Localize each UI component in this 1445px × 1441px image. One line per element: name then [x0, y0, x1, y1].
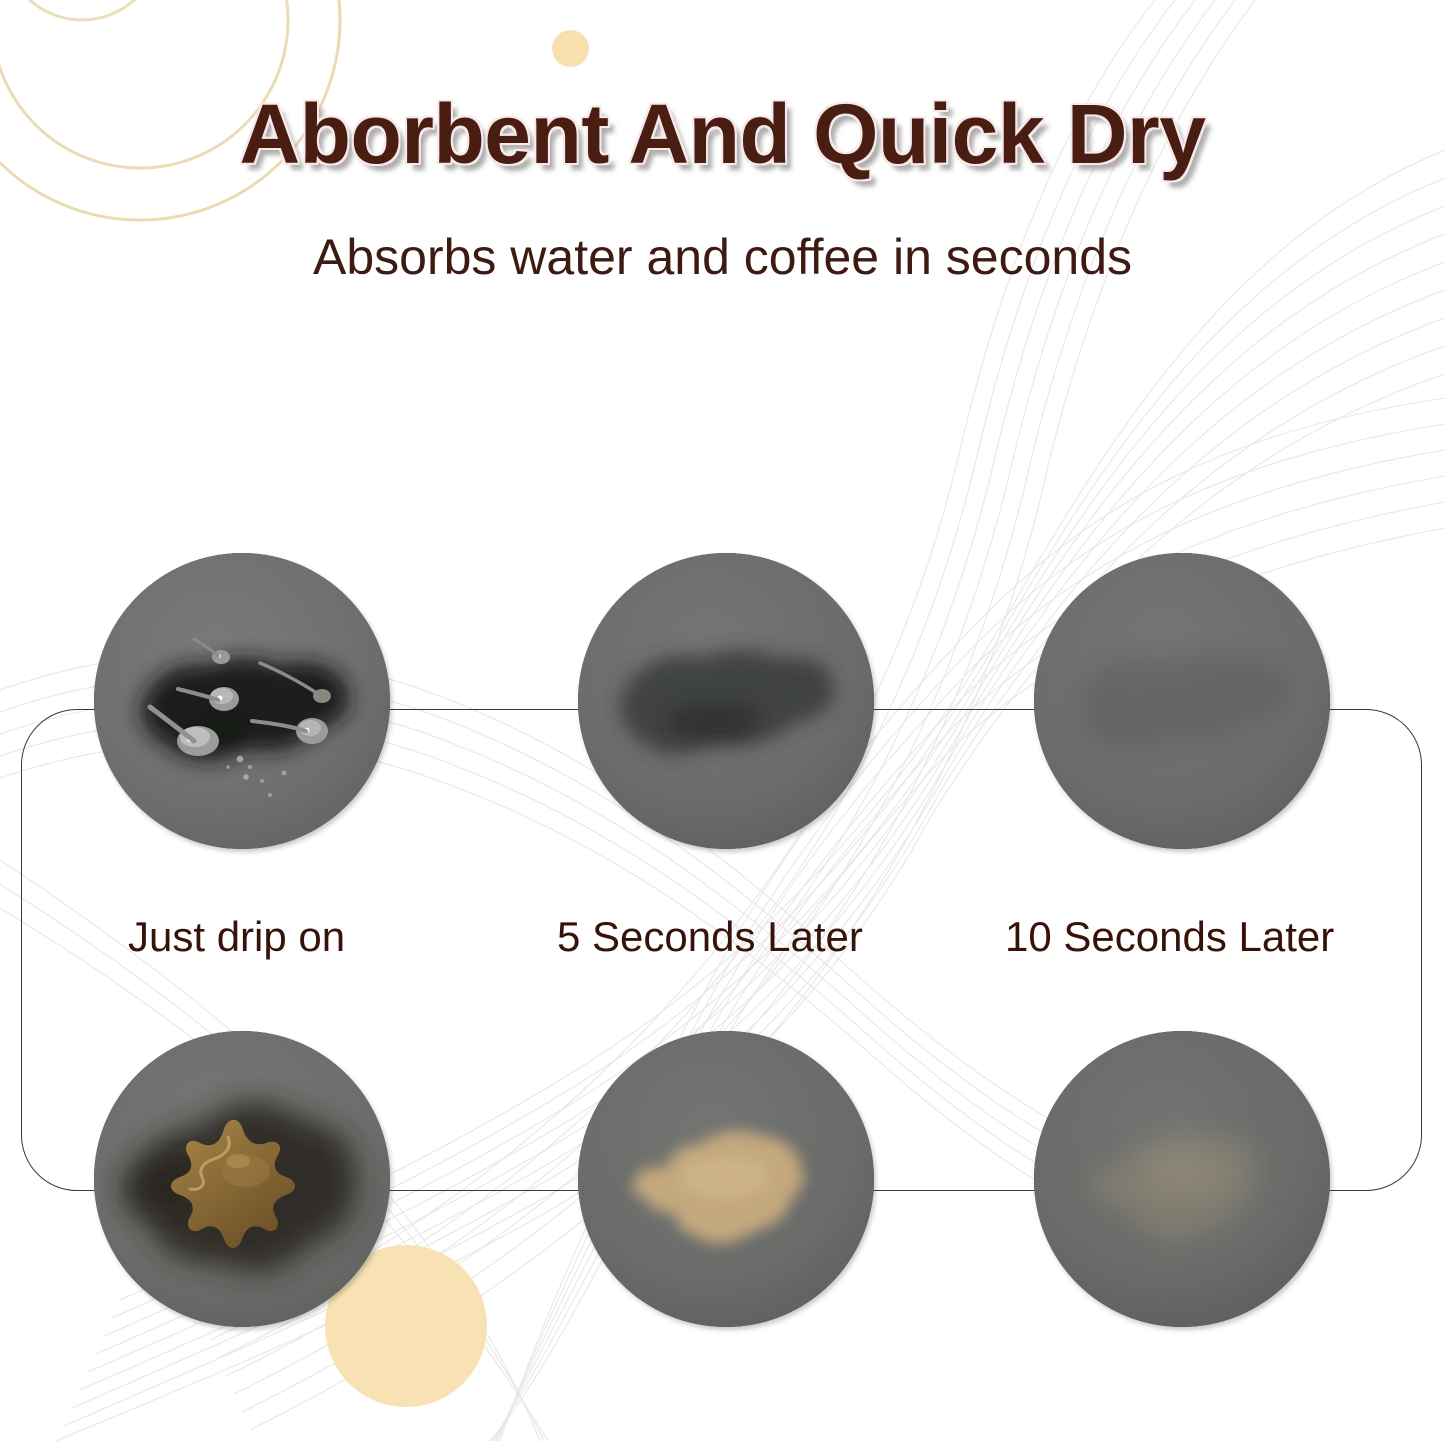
caption-10-seconds-later: 10 Seconds Later: [1005, 913, 1334, 961]
page-title: Aborbent And Quick Dry: [0, 86, 1445, 183]
demo-circle-water-drip: [94, 553, 390, 849]
decorative-dot-top: [552, 30, 589, 67]
product-infographic-poster: Aborbent And Quick Dry Absorbs water and…: [0, 0, 1445, 1441]
demo-circle-water-10s: [1034, 553, 1330, 849]
demo-circle-coffee-10s: [1034, 1031, 1330, 1327]
demo-circle-coffee-drip: [94, 1031, 390, 1327]
caption-5-seconds-later: 5 Seconds Later: [557, 913, 863, 961]
page-subtitle: Absorbs water and coffee in seconds: [0, 228, 1445, 286]
demo-circle-coffee-5s: [578, 1031, 874, 1327]
demo-circle-water-5s: [578, 553, 874, 849]
caption-just-drip-on: Just drip on: [128, 913, 345, 961]
